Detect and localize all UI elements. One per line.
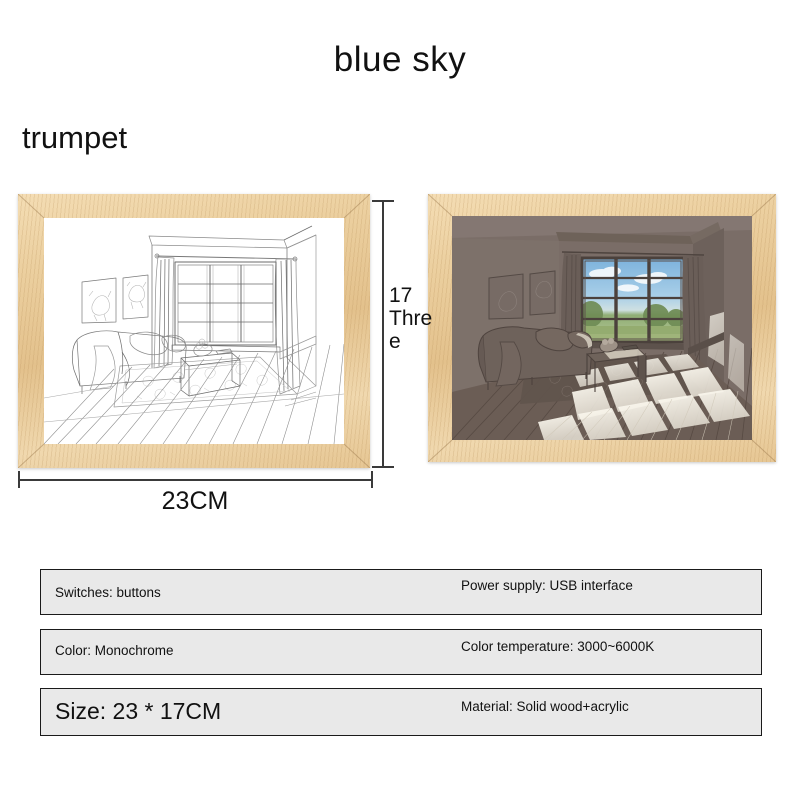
dim-h-line3: e xyxy=(389,330,435,353)
product-frame-illuminated xyxy=(428,194,776,462)
product-frame-line-art xyxy=(18,194,370,468)
spec-power-supply: Power supply: USB interface xyxy=(461,578,633,594)
page-title-blue-sky: blue sky xyxy=(0,40,800,80)
artwork-illuminated xyxy=(452,216,752,440)
spec-row: Color: Monochrome Color temperature: 300… xyxy=(40,629,762,675)
line-art-living-room xyxy=(44,218,344,444)
dim-h-line1: 17 xyxy=(389,284,435,307)
product-infographic: blue sky trumpet xyxy=(0,0,800,800)
spec-size: Size: 23 * 17CM xyxy=(55,698,221,724)
spec-color: Color: Monochrome xyxy=(55,643,174,659)
spec-material: Material: Solid wood+acrylic xyxy=(461,699,629,715)
dimension-height-label: 17 Thre e xyxy=(389,284,435,353)
artwork-line-art xyxy=(44,218,344,444)
spec-row: Size: 23 * 17CM Material: Solid wood+acr… xyxy=(40,688,762,736)
illuminated-living-room xyxy=(452,216,752,440)
page-title-trumpet: trumpet xyxy=(22,120,127,156)
dim-h-line2: Thre xyxy=(389,307,435,330)
spec-row: Switches: buttons Power supply: USB inte… xyxy=(40,569,762,615)
spec-color-temperature: Color temperature: 3000~6000K xyxy=(461,639,654,655)
spec-switches: Switches: buttons xyxy=(55,585,161,601)
dimension-width-label: 23CM xyxy=(0,487,390,515)
